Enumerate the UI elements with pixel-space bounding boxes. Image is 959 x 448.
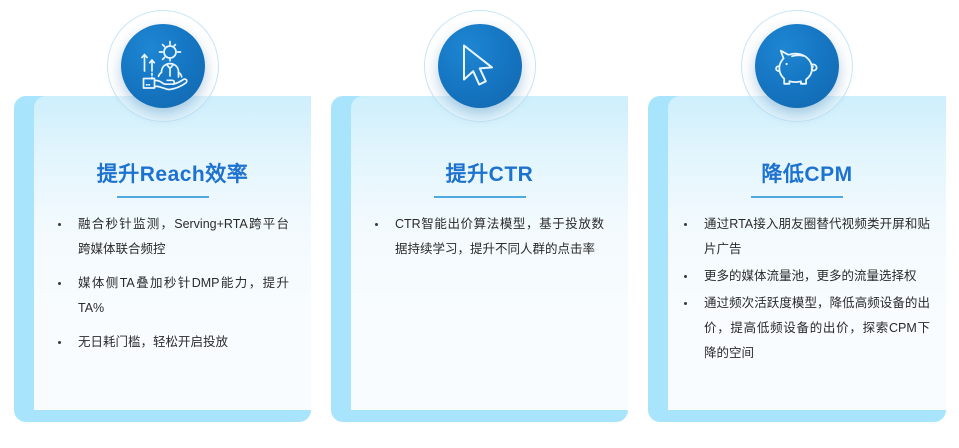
- card-title: 提升CTR: [351, 158, 628, 188]
- mouse-cursor-arrow-icon: [438, 24, 522, 108]
- card-title: 提升Reach效率: [34, 158, 311, 188]
- card-reach-efficiency[interactable]: 提升Reach效率 融合秒针监测，Serving+RTA跨平台跨媒体联合频控 媒…: [14, 96, 311, 422]
- list-item: 通过RTA接入朋友圈替代视频类开屏和贴片广告: [682, 212, 930, 262]
- list-item: 媒体侧TA叠加秒针DMP能力，提升TA%: [56, 271, 289, 321]
- card-title: 降低CPM: [668, 158, 946, 188]
- title-divider: [434, 196, 526, 198]
- card-icon-wrapper: [739, 8, 855, 124]
- title-divider: [751, 196, 843, 198]
- card-icon-wrapper: [105, 8, 221, 124]
- bullet-list: CTR智能出价算法模型，基于投放数据持续学习，提升不同人群的点击率: [373, 212, 604, 271]
- title-divider: [117, 196, 209, 198]
- piggy-bank-icon: [755, 24, 839, 108]
- benefits-cards-board: 提升Reach效率 融合秒针监测，Serving+RTA跨平台跨媒体联合频控 媒…: [0, 0, 959, 448]
- list-item: 更多的媒体流量池，更多的流量选择权: [682, 264, 930, 289]
- hand-holding-person-growth-icon: [121, 24, 205, 108]
- card-icon-wrapper: [422, 8, 538, 124]
- list-item: 融合秒针监测，Serving+RTA跨平台跨媒体联合频控: [56, 212, 289, 262]
- card-cpm-reduction[interactable]: 降低CPM 通过RTA接入朋友圈替代视频类开屏和贴片广告 更多的媒体流量池，更多…: [648, 96, 946, 422]
- list-item: 无日耗门槛，轻松开启投放: [56, 330, 289, 355]
- bullet-list: 通过RTA接入朋友圈替代视频类开屏和贴片广告 更多的媒体流量池，更多的流量选择权…: [682, 212, 930, 368]
- list-item: 通过频次活跃度模型，降低高频设备的出价，提高低频设备的出价，探索CPM下降的空间: [682, 291, 930, 366]
- bullet-list: 融合秒针监测，Serving+RTA跨平台跨媒体联合频控 媒体侧TA叠加秒针DM…: [56, 212, 289, 364]
- list-item: CTR智能出价算法模型，基于投放数据持续学习，提升不同人群的点击率: [373, 212, 604, 262]
- cards-row: 提升Reach效率 融合秒针监测，Serving+RTA跨平台跨媒体联合频控 媒…: [0, 96, 959, 426]
- card-ctr-improvement[interactable]: 提升CTR CTR智能出价算法模型，基于投放数据持续学习，提升不同人群的点击率: [331, 96, 628, 422]
